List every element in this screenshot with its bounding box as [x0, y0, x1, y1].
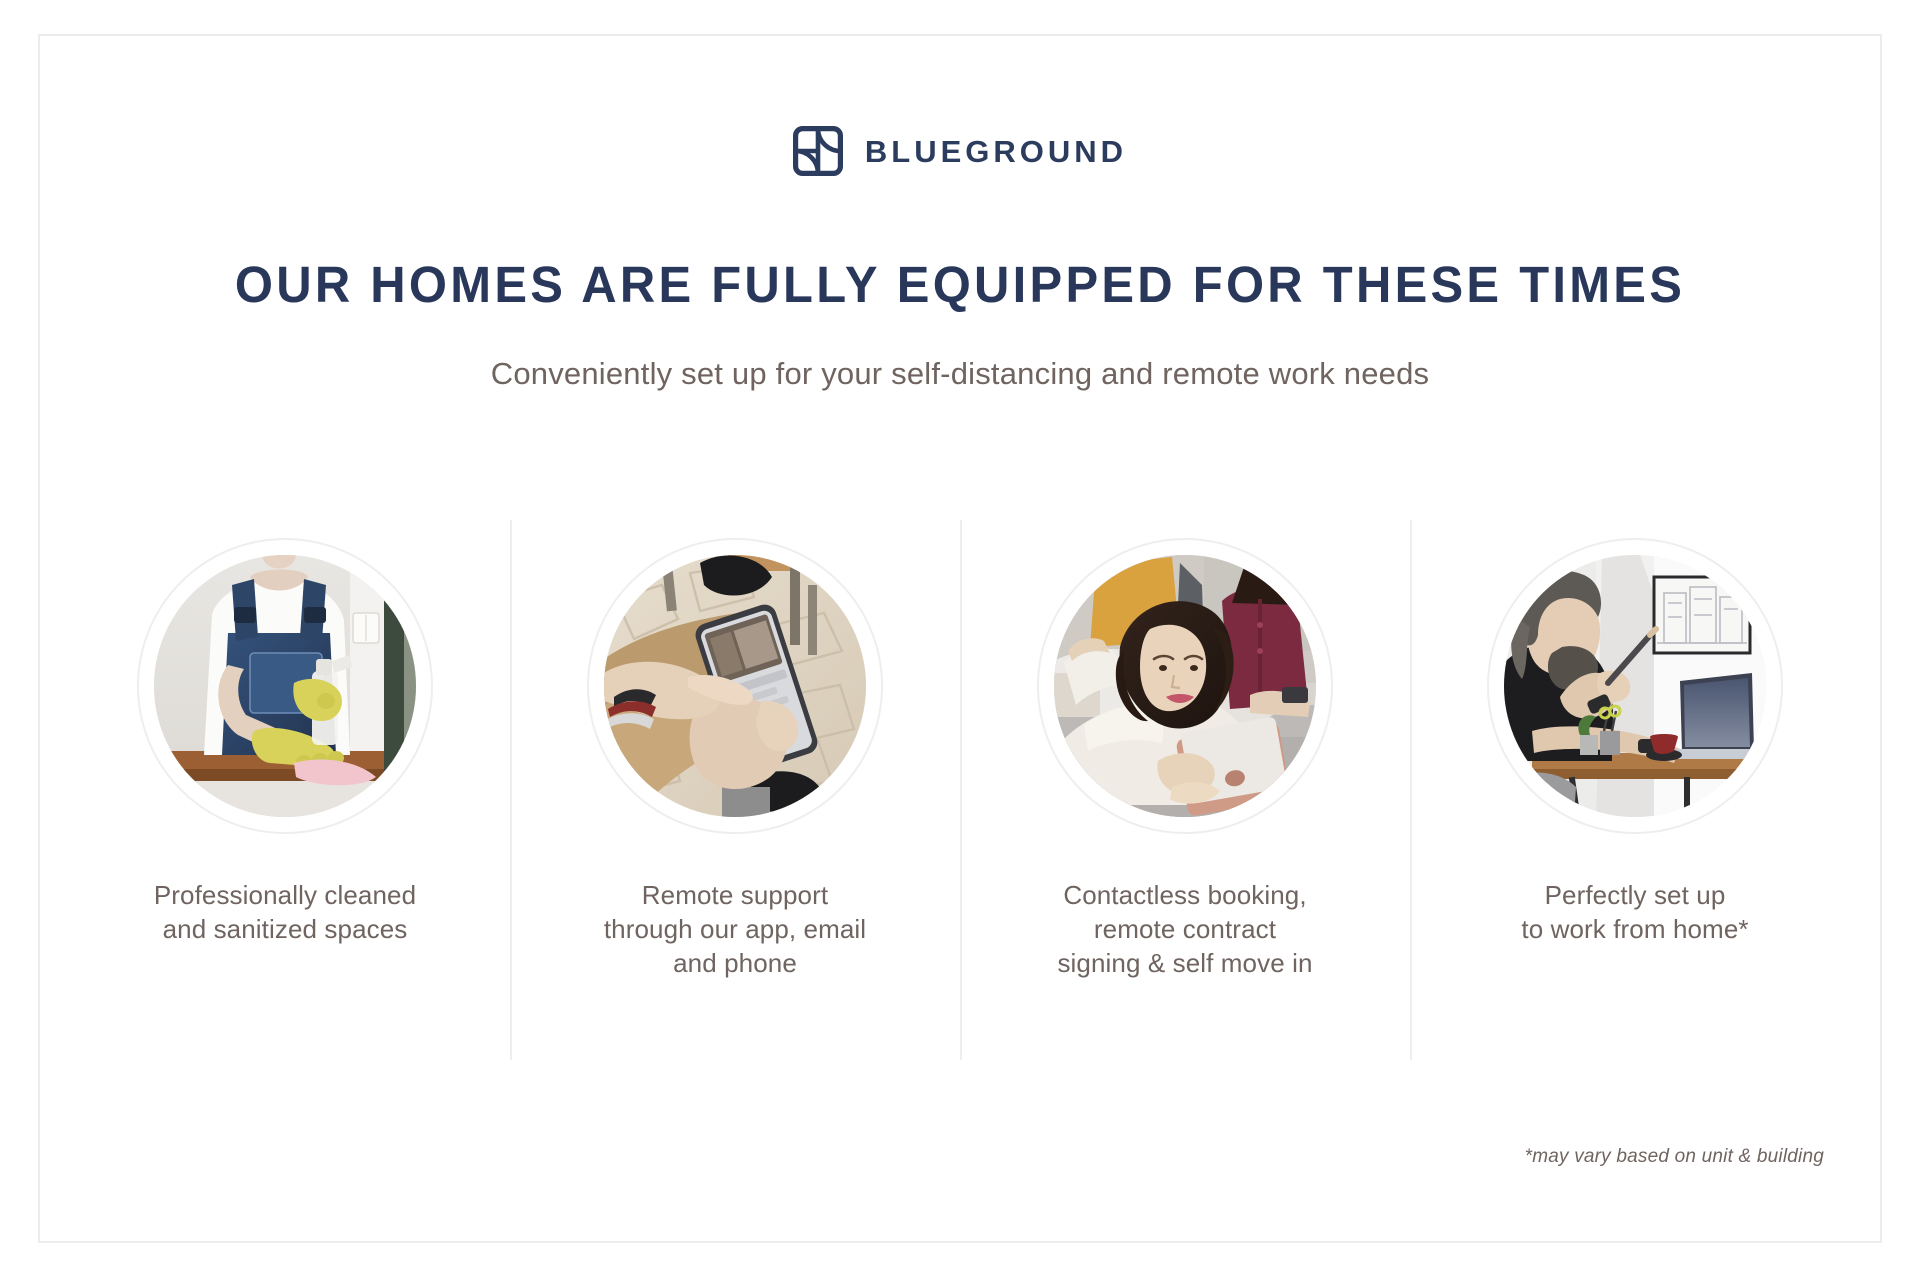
- feature-card-contactless-booking: Contactless booking, remote contract sig…: [960, 520, 1410, 1060]
- feature-caption: Contactless booking, remote contract sig…: [1020, 878, 1350, 980]
- blueground-square-logo-icon: [793, 126, 843, 176]
- photo-woman-on-bed-with-tablet: [1054, 555, 1316, 817]
- feature-card-remote-support: Remote support through our app, email an…: [510, 520, 960, 1060]
- caption-line: through our app, email: [570, 912, 900, 946]
- feature-caption: Remote support through our app, email an…: [570, 878, 900, 980]
- photo-frame: [587, 538, 883, 834]
- poster-canvas: BLUEGROUND OUR HOMES ARE FULLY EQUIPPED …: [0, 0, 1920, 1280]
- photo-frame: [137, 538, 433, 834]
- caption-line: remote contract: [1020, 912, 1350, 946]
- caption-line: and sanitized spaces: [120, 912, 450, 946]
- feature-card-cleaning: Professionally cleaned and sanitized spa…: [60, 520, 510, 1060]
- photo-hands-using-phone-app: [604, 555, 866, 817]
- caption-line: to work from home*: [1470, 912, 1800, 946]
- page-subtitle: Conveniently set up for your self-distan…: [0, 355, 1920, 392]
- feature-list: Professionally cleaned and sanitized spa…: [60, 520, 1860, 1060]
- brand-logo: BLUEGROUND: [0, 126, 1920, 176]
- page-title: OUR HOMES ARE FULLY EQUIPPED FOR THESE T…: [38, 258, 1881, 312]
- caption-line: signing & self move in: [1020, 946, 1350, 980]
- photo-frame: [1037, 538, 1333, 834]
- caption-line: and phone: [570, 946, 900, 980]
- caption-line: Perfectly set up: [1470, 878, 1800, 912]
- caption-line: Remote support: [570, 878, 900, 912]
- feature-caption: Perfectly set up to work from home*: [1470, 878, 1800, 946]
- footnote-disclaimer: *may vary based on unit & building: [1525, 1146, 1824, 1168]
- brand-wordmark: BLUEGROUND: [865, 136, 1127, 167]
- photo-cleaning-staff-sanitizing-counter: [154, 555, 416, 817]
- caption-line: Professionally cleaned: [120, 878, 450, 912]
- caption-line: Contactless booking,: [1020, 878, 1350, 912]
- feature-card-work-from-home: Perfectly set up to work from home*: [1410, 520, 1860, 1060]
- photo-frame: [1487, 538, 1783, 834]
- feature-caption: Professionally cleaned and sanitized spa…: [120, 878, 450, 946]
- photo-man-working-at-desk-laptop: [1504, 555, 1766, 817]
